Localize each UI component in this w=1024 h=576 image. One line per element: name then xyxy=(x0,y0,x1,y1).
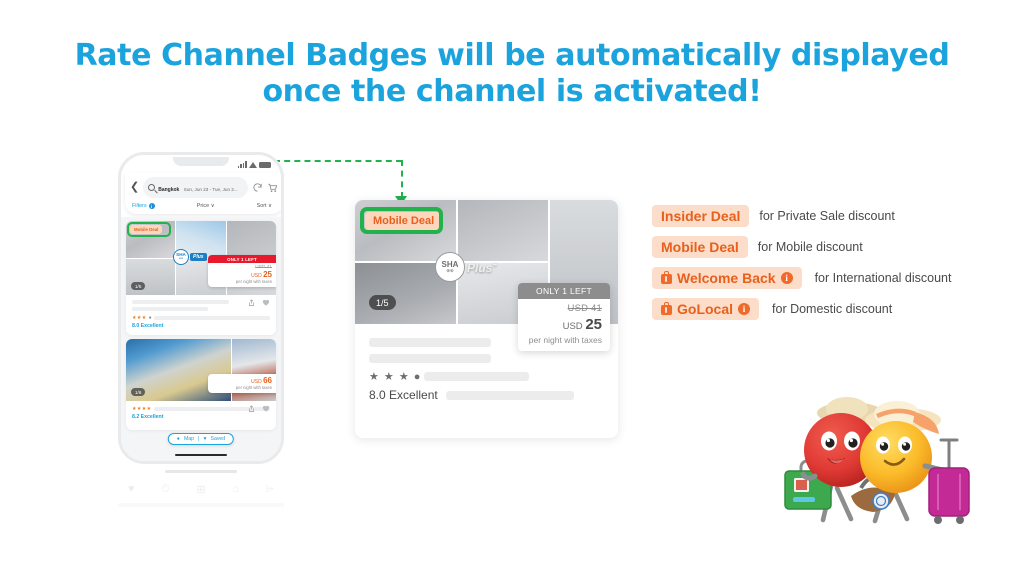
refresh-icon[interactable] xyxy=(252,182,263,193)
review-score: 8.0 Excellent xyxy=(369,388,438,402)
star-rating: ★★★ xyxy=(132,315,147,321)
search-destination: Bangkok xyxy=(158,187,179,193)
legend-item-welcome-back: Welcome Back i for International discoun… xyxy=(652,262,997,293)
filters-button[interactable]: Filters i xyxy=(132,203,155,209)
location-pin-icon: ● xyxy=(149,315,152,321)
page-title: Rate Channel Badges will be automaticall… xyxy=(0,38,1024,110)
heart-icon[interactable] xyxy=(262,299,270,306)
legend-description: for Private Sale discount xyxy=(759,209,895,223)
sha-plus-label: Plus xyxy=(467,261,492,275)
sha-plus-label: Plus xyxy=(190,253,207,261)
image-counter: 1/5 xyxy=(369,295,396,310)
wifi-icon xyxy=(249,162,257,168)
price-filter-label: Price xyxy=(197,203,209,209)
legend-badge-label: Mobile Deal xyxy=(661,239,739,255)
hotel-sub-placeholder xyxy=(369,354,491,363)
sort-filter-button[interactable]: Sort ∨ xyxy=(257,203,272,209)
hotel-sub-placeholder xyxy=(132,307,208,311)
only-left-label: ONLY 1 LEFT xyxy=(208,255,276,263)
page-title-line-2: once the channel is activated! xyxy=(0,74,1024,110)
phone-results-list[interactable]: Mobile Deal SHA ⊕⊕ Plus 1/5 ONLY 1 LEFT … xyxy=(121,217,281,461)
price-value: 25 xyxy=(263,270,272,279)
price-note: per night with taxes xyxy=(526,335,602,345)
sort-filter-label: Sort xyxy=(257,203,267,209)
search-icon xyxy=(148,184,155,191)
share-icon[interactable] xyxy=(248,405,255,413)
price-currency: USD xyxy=(563,321,583,332)
callout-dash-right xyxy=(401,160,403,198)
phone-mockup: ❮ Bangkok Sun, Jun 23 - Tue, Jun 2... xyxy=(118,152,284,464)
heart-icon[interactable] xyxy=(262,405,270,412)
map-saved-toggle[interactable]: ● Map | ♥ Saved xyxy=(168,433,234,445)
info-icon[interactable]: i xyxy=(781,272,793,284)
review-score: 8.0 Excellent xyxy=(132,323,270,329)
saved-label: Saved xyxy=(210,436,225,442)
search-input[interactable]: Bangkok Sun, Jun 23 - Tue, Jun 2... xyxy=(143,177,248,198)
cart-icon: ⌲ xyxy=(265,483,274,496)
detail-card[interactable]: Mobile Deal SHA ⊕⊕ Plus+ 1/5 ONLY 1 LEFT… xyxy=(355,200,618,438)
price-value: 25 xyxy=(585,316,602,333)
info-icon[interactable]: i xyxy=(738,303,750,315)
price-tooltip: ONLY 1 LEFT USD 41 USD 25 per night with… xyxy=(208,255,276,287)
sha-sub: ⊕⊕ xyxy=(179,258,183,261)
legend-list: Insider Deal for Private Sale discount M… xyxy=(652,200,997,324)
phone-status-bar xyxy=(238,161,271,168)
ghost-bottom-nav: ♥ ⏱ ⊞ ⌂ ⌲ xyxy=(118,470,284,507)
list-item[interactable]: 1/6 USD 66 per night with taxes xyxy=(126,339,276,430)
price-value: 66 xyxy=(263,376,272,385)
chevron-down-icon: ∨ xyxy=(268,203,272,209)
legend-description: for Mobile discount xyxy=(758,240,863,254)
image-counter: 1/5 xyxy=(131,282,145,290)
ghost-caption xyxy=(118,503,284,507)
legend-item-golocal: GoLocal i for Domestic discount xyxy=(652,293,997,324)
badge-highlight-box xyxy=(127,222,171,237)
legend-description: for Domestic discount xyxy=(772,302,892,316)
badge-highlight-box xyxy=(360,207,443,234)
mascot-illustration xyxy=(775,388,975,533)
page-title-line-1: Rate Channel Badges will be automaticall… xyxy=(0,38,1024,74)
golocal-badge[interactable]: GoLocal i xyxy=(652,298,759,320)
location-pin-icon: ● xyxy=(414,371,421,383)
filters-badge: i xyxy=(149,203,155,209)
hotel-name-placeholder xyxy=(132,300,229,304)
review-score: 8.2 Excellent xyxy=(132,414,270,420)
pink-roller-bag-icon xyxy=(929,440,969,524)
filters-label: Filters xyxy=(132,203,147,209)
sha-plus-logo: SHA ⊕⊕ Plus xyxy=(173,249,207,265)
only-left-label: ONLY 1 LEFT xyxy=(518,283,610,299)
star-rating: ★★★★ xyxy=(132,406,152,412)
suitcase-icon xyxy=(661,271,672,284)
sha-plus-sup: + xyxy=(492,260,497,269)
heart-icon: ♥ xyxy=(128,483,135,496)
ghost-home-indicator xyxy=(165,470,237,473)
price-tooltip: USD 66 per night with taxes xyxy=(208,374,276,393)
battery-icon xyxy=(259,162,271,168)
share-icon[interactable] xyxy=(248,299,255,307)
star-rating: ★ ★ ★ xyxy=(369,370,410,383)
price-original: USD 41 xyxy=(526,303,602,314)
hotel-gallery[interactable]: 1/6 USD 66 per night with taxes xyxy=(126,339,276,401)
home-icon: ⌂ xyxy=(232,483,239,496)
welcome-back-badge[interactable]: Welcome Back i xyxy=(652,267,802,289)
legend-badge-label: Welcome Back xyxy=(677,270,776,286)
location-placeholder xyxy=(154,316,270,320)
signal-icon xyxy=(238,161,247,168)
hotel-gallery[interactable]: Mobile Deal SHA ⊕⊕ Plus 1/5 ONLY 1 LEFT … xyxy=(126,221,276,295)
slide-canvas: Rate Channel Badges will be automaticall… xyxy=(0,0,1024,576)
mobile-deal-badge[interactable]: Mobile Deal xyxy=(652,236,748,258)
legend-badge-label: Insider Deal xyxy=(661,208,740,224)
heart-icon: ♥ xyxy=(203,436,206,442)
clock-icon: ⏱ xyxy=(161,483,170,496)
yellow-mascot-body xyxy=(860,421,932,493)
price-tooltip: ONLY 1 LEFT USD 41 USD 25 per night with… xyxy=(518,283,610,351)
review-placeholder xyxy=(446,391,574,400)
sha-plus-logo: SHA ⊕⊕ Plus+ xyxy=(435,252,497,282)
suitcase-icon xyxy=(661,302,672,315)
plus-box-icon: ⊞ xyxy=(196,483,205,496)
insider-deal-badge[interactable]: Insider Deal xyxy=(652,205,749,227)
price-filter-button[interactable]: Price ∨ xyxy=(197,203,215,209)
price-note: per night with taxes xyxy=(212,279,272,284)
image-counter: 1/6 xyxy=(131,388,145,396)
price-note: per night with taxes xyxy=(212,385,272,390)
legend-badge-label: GoLocal xyxy=(677,301,733,317)
legend-item-insider-deal: Insider Deal for Private Sale discount xyxy=(652,200,997,231)
search-dates: Sun, Jun 23 - Tue, Jun 2... xyxy=(184,187,238,192)
legend-item-mobile-deal: Mobile Deal for Mobile discount xyxy=(652,231,997,262)
chevron-left-icon[interactable]: ❮ xyxy=(130,182,139,193)
sha-sub: ⊕⊕ xyxy=(446,269,454,274)
chevron-down-icon: ∨ xyxy=(211,203,215,209)
pill-divider: | xyxy=(198,436,199,442)
map-label: Map xyxy=(184,436,194,442)
hotel-name-placeholder xyxy=(369,338,491,347)
home-indicator xyxy=(175,454,227,457)
phone-search-header: ❮ Bangkok Sun, Jun 23 - Tue, Jun 2... xyxy=(125,173,283,214)
cart-icon[interactable] xyxy=(267,182,278,193)
list-item[interactable]: Mobile Deal SHA ⊕⊕ Plus 1/5 ONLY 1 LEFT … xyxy=(126,221,276,335)
location-placeholder xyxy=(424,372,529,381)
detail-gallery[interactable]: Mobile Deal SHA ⊕⊕ Plus+ 1/5 ONLY 1 LEFT… xyxy=(355,200,618,324)
location-pin-icon: ● xyxy=(177,436,180,442)
phone-notch xyxy=(173,157,229,166)
legend-description: for International discount xyxy=(815,271,952,285)
